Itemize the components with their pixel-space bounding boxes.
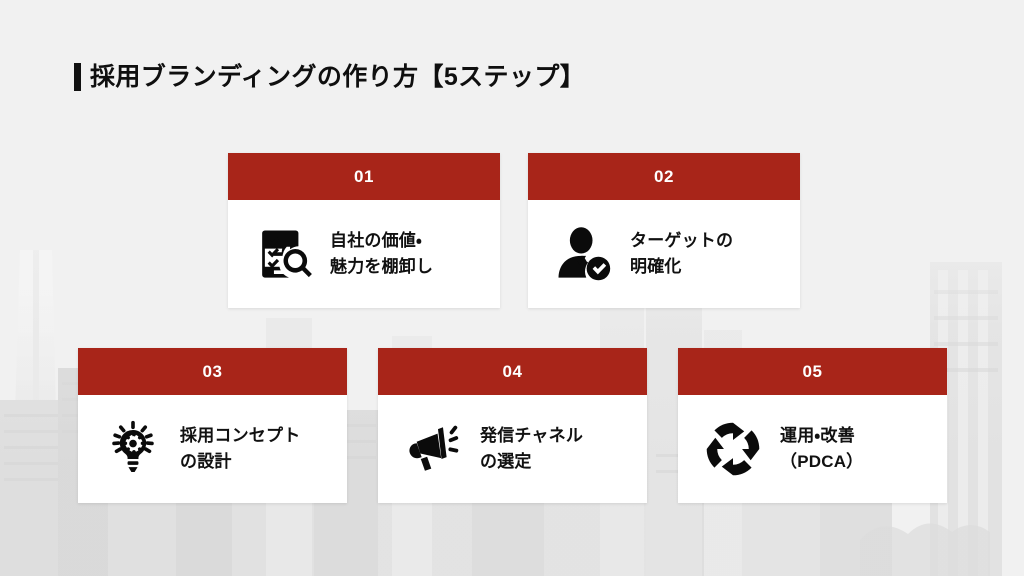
step-number-02: 02	[654, 168, 674, 185]
step-card-02-body: ターゲットの 明確化	[528, 200, 800, 308]
step-card-05-body: 運用・改善 （PDCA）	[678, 395, 947, 503]
step-number-04: 04	[502, 363, 522, 380]
step-card-04-header: 04	[378, 348, 647, 395]
step-number-03: 03	[202, 363, 222, 380]
lightbulb-gear-icon	[104, 420, 162, 478]
step-card-03-body: 採用コンセプト の設計	[78, 395, 347, 503]
slide-content: 採用ブランディングの作り方【5ステップ】 01 自社の価値・ 魅力を棚卸し 02	[0, 0, 1024, 576]
step-number-05: 05	[802, 363, 822, 380]
step-card-03-header: 03	[78, 348, 347, 395]
step-card-04-body: 発信チャネル の選定	[378, 395, 647, 503]
step-card-01[interactable]: 01 自社の価値・ 魅力を棚卸し	[228, 153, 500, 308]
step-card-05-header: 05	[678, 348, 947, 395]
step-number-01: 01	[354, 168, 374, 185]
checklist-magnifier-icon	[254, 225, 312, 283]
person-check-icon	[554, 225, 612, 283]
step-card-05[interactable]: 05 運用・改善 （PDCA）	[678, 348, 947, 503]
step-card-01-body: 自社の価値・ 魅力を棚卸し	[228, 200, 500, 308]
page-title: 採用ブランディングの作り方【5ステップ】	[74, 60, 585, 94]
title-accent-bar	[74, 63, 81, 91]
step-card-03[interactable]: 03	[78, 348, 347, 503]
step-card-02-header: 02	[528, 153, 800, 200]
step-card-02[interactable]: 02 ターゲットの 明確化	[528, 153, 800, 308]
step-label-03: 採用コンセプト の設計	[180, 423, 300, 476]
step-label-02: ターゲットの 明確化	[630, 228, 733, 281]
cycle-arrows-icon	[704, 420, 762, 478]
step-label-05: 運用・改善 （PDCA）	[780, 423, 863, 476]
megaphone-icon	[404, 420, 462, 478]
page-title-text: 採用ブランディングの作り方【5ステップ】	[90, 65, 585, 90]
step-card-01-header: 01	[228, 153, 500, 200]
step-card-04[interactable]: 04 発信チャネル の選定	[378, 348, 647, 503]
step-label-01: 自社の価値・ 魅力を棚卸し	[330, 228, 433, 281]
step-label-04: 発信チャネル の選定	[480, 423, 583, 476]
